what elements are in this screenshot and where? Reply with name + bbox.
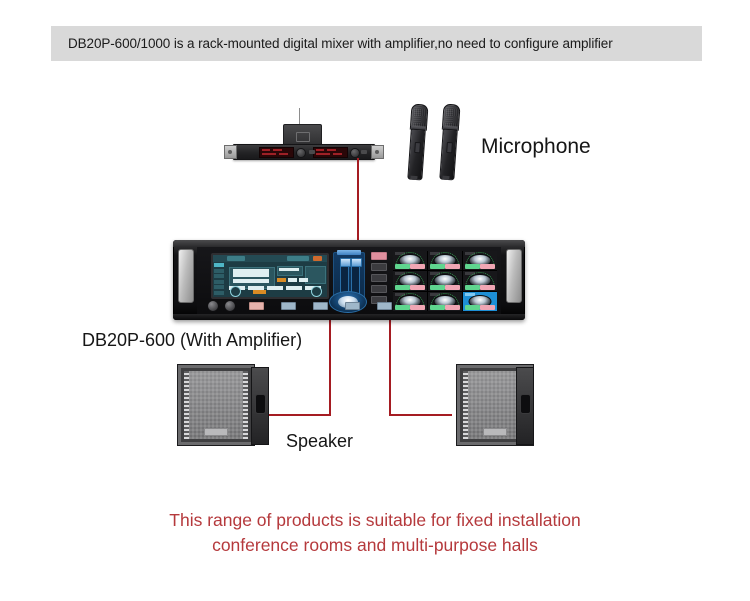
mixer-channel-module xyxy=(463,271,497,290)
mixer-front-control-strip xyxy=(197,297,501,313)
mixer-rack-handle-right xyxy=(506,249,522,303)
mixer-front-knob-1 xyxy=(207,300,219,312)
mixer-top-panel xyxy=(173,240,525,247)
diagram-canvas: DB20P-600/1000 is a rack-mounted digital… xyxy=(0,0,750,601)
mixer-front-button xyxy=(377,302,392,310)
microphone-tip xyxy=(442,176,449,180)
wireless-microphone-receiver xyxy=(233,124,373,158)
mixer-front-button xyxy=(345,302,360,310)
microphone-tip xyxy=(410,176,417,180)
lcd-side-menu xyxy=(214,263,224,296)
wire-mixer-to-left-speaker-horizontal xyxy=(268,414,331,416)
handheld-microphone-2 xyxy=(438,104,458,179)
header-banner: DB20P-600/1000 is a rack-mounted digital… xyxy=(51,26,702,61)
mixer-button xyxy=(371,263,387,271)
speaker-handle xyxy=(255,394,266,414)
speaker-side-panel xyxy=(251,367,269,445)
receiver-rack-ear-right xyxy=(371,145,384,159)
speaker-badge xyxy=(483,428,507,436)
microphone-body xyxy=(439,129,458,181)
mixer-button xyxy=(371,274,387,282)
mixer-front-knob-2 xyxy=(224,300,236,312)
mixer-channel-module xyxy=(393,251,427,270)
mixer-label: DB20P-600 (With Amplifier) xyxy=(82,330,302,351)
mixer-channel-module xyxy=(428,271,462,290)
receiver-knob-1 xyxy=(296,148,306,158)
speaker-trim-left xyxy=(184,371,189,439)
mixer-front-button xyxy=(281,302,296,310)
speaker-cabinet xyxy=(177,364,255,446)
mixer-button xyxy=(371,252,387,260)
handheld-microphone-1 xyxy=(406,104,426,179)
mixer-front-button xyxy=(249,302,264,310)
wire-mixer-to-left-speaker-vertical xyxy=(329,318,331,416)
mixer-lcd-screen xyxy=(211,253,329,299)
speaker-right xyxy=(442,364,532,444)
receiver-antenna xyxy=(299,108,300,125)
microphone-body xyxy=(407,129,426,181)
fader-cap xyxy=(340,258,351,267)
speaker-badge xyxy=(204,428,228,436)
speaker-left xyxy=(177,364,267,444)
db20p-600-digital-mixer-amplifier xyxy=(173,240,525,320)
wire-microphone-to-mixer xyxy=(357,158,359,240)
speaker-trim-right xyxy=(243,371,248,439)
receiver-display-1 xyxy=(259,147,294,158)
microphone-label: Microphone xyxy=(481,135,591,159)
mixer-channel-module xyxy=(393,271,427,290)
receiver-display-2 xyxy=(313,147,348,158)
mixer-channel-module xyxy=(428,251,462,270)
mixer-bottom-panel xyxy=(173,314,525,320)
receiver-knob-2 xyxy=(350,148,360,158)
header-banner-text: DB20P-600/1000 is a rack-mounted digital… xyxy=(51,36,613,51)
mixer-front-button xyxy=(313,302,328,310)
mixer-button xyxy=(371,285,387,293)
mixer-channel-module xyxy=(463,251,497,270)
receiver-button-2 xyxy=(361,150,367,154)
speaker-label: Speaker xyxy=(286,431,353,452)
fader-cap xyxy=(351,258,362,267)
wire-mixer-to-right-speaker-vertical xyxy=(389,318,391,416)
speaker-trim-left xyxy=(463,371,468,439)
receiver-rack-ear-left xyxy=(224,145,237,159)
mixer-rack-handle-left xyxy=(178,249,194,303)
speaker-handle xyxy=(520,394,531,414)
receiver-button-1 xyxy=(309,150,315,154)
speaker-side-panel xyxy=(516,367,534,445)
footnote-text: This range of products is suitable for f… xyxy=(0,508,750,558)
mixer-button-column xyxy=(371,252,385,298)
